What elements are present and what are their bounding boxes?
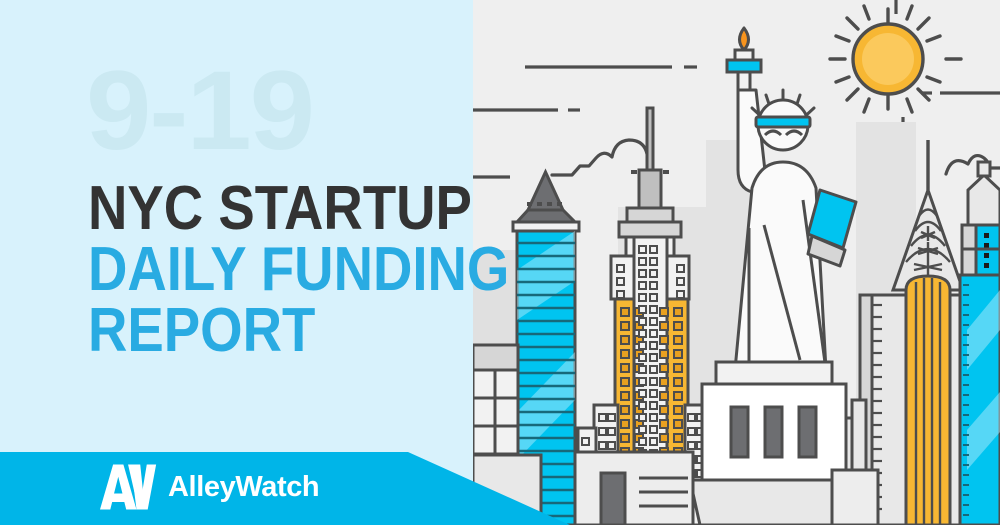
- aw-monogram-icon: [100, 464, 158, 510]
- date-label: 9-19: [86, 55, 313, 167]
- poster-canvas: 9-19 NYC STARTUP DAILY FUNDING REPORT Al…: [0, 0, 1000, 525]
- headline-line-1: NYC STARTUP: [88, 180, 509, 237]
- headline-block: NYC STARTUP DAILY FUNDING REPORT: [88, 180, 567, 359]
- brand-wordmark: AlleyWatch: [168, 471, 319, 504]
- alleywatch-logo[interactable]: AlleyWatch: [100, 464, 319, 510]
- headline-line-3: REPORT: [88, 302, 509, 359]
- pedestal-windows: [731, 407, 816, 457]
- headline-line-2: DAILY FUNDING: [88, 241, 509, 298]
- title-panel: 9-19 NYC STARTUP DAILY FUNDING REPORT: [0, 0, 473, 525]
